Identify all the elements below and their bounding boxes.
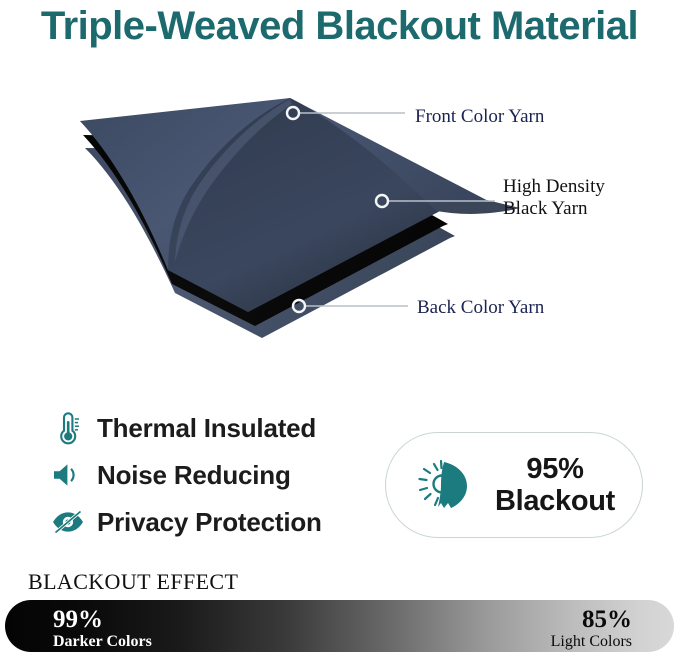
feature-label-noise-reducing: Noise Reducing (97, 460, 291, 491)
page-title: Triple-Weaved Blackout Material (0, 4, 679, 49)
infographic-page: Triple-Weaved Blackout Material (0, 0, 679, 654)
feature-item-thermal-insulated: Thermal Insulated (48, 406, 368, 450)
feature-label-privacy-protection: Privacy Protection (97, 507, 322, 538)
blackout-effect-left-sublabel: Darker Colors (53, 633, 152, 651)
thermometer-icon (48, 410, 88, 446)
feature-item-noise-reducing: Noise Reducing (48, 453, 368, 497)
callout-label-back-color-yarn: Back Color Yarn (417, 297, 544, 319)
blackout-effect-left-percent: 99% (53, 606, 152, 633)
blackout-effect-left-group: 99% Darker Colors (53, 606, 152, 651)
callout-label-line-1: High Density (503, 176, 605, 198)
eye-off-icon (48, 504, 88, 540)
feature-list: Thermal Insulated Noise Reducing (48, 406, 368, 547)
sun-behind-curtain-icon (413, 453, 479, 517)
blackout-badge-text: 95% Blackout (495, 453, 615, 518)
blackout-effect-right-sublabel: Light Colors (551, 633, 632, 651)
blackout-badge: 95% Blackout (385, 432, 643, 538)
feature-label-thermal-insulated: Thermal Insulated (97, 413, 316, 444)
callout-label-high-density-black-yarn: High Density Black Yarn (503, 176, 605, 221)
blackout-effect-right-group: 85% Light Colors (551, 606, 632, 651)
callout-label-line-2: Black Yarn (503, 198, 605, 220)
feature-item-privacy-protection: Privacy Protection (48, 500, 368, 544)
blackout-badge-percent: 95% (526, 453, 583, 485)
callout-label-front-color-yarn: Front Color Yarn (415, 106, 544, 128)
speaker-sound-icon (48, 457, 88, 493)
fabric-layers-diagram: Front Color Yarn High Density Black Yarn… (0, 88, 679, 348)
blackout-effect-right-percent: 85% (551, 606, 632, 633)
blackout-badge-label: Blackout (495, 485, 615, 517)
blackout-effect-heading: BLACKOUT EFFECT (28, 569, 238, 595)
blackout-effect-bar: 99% Darker Colors 85% Light Colors (5, 600, 674, 652)
